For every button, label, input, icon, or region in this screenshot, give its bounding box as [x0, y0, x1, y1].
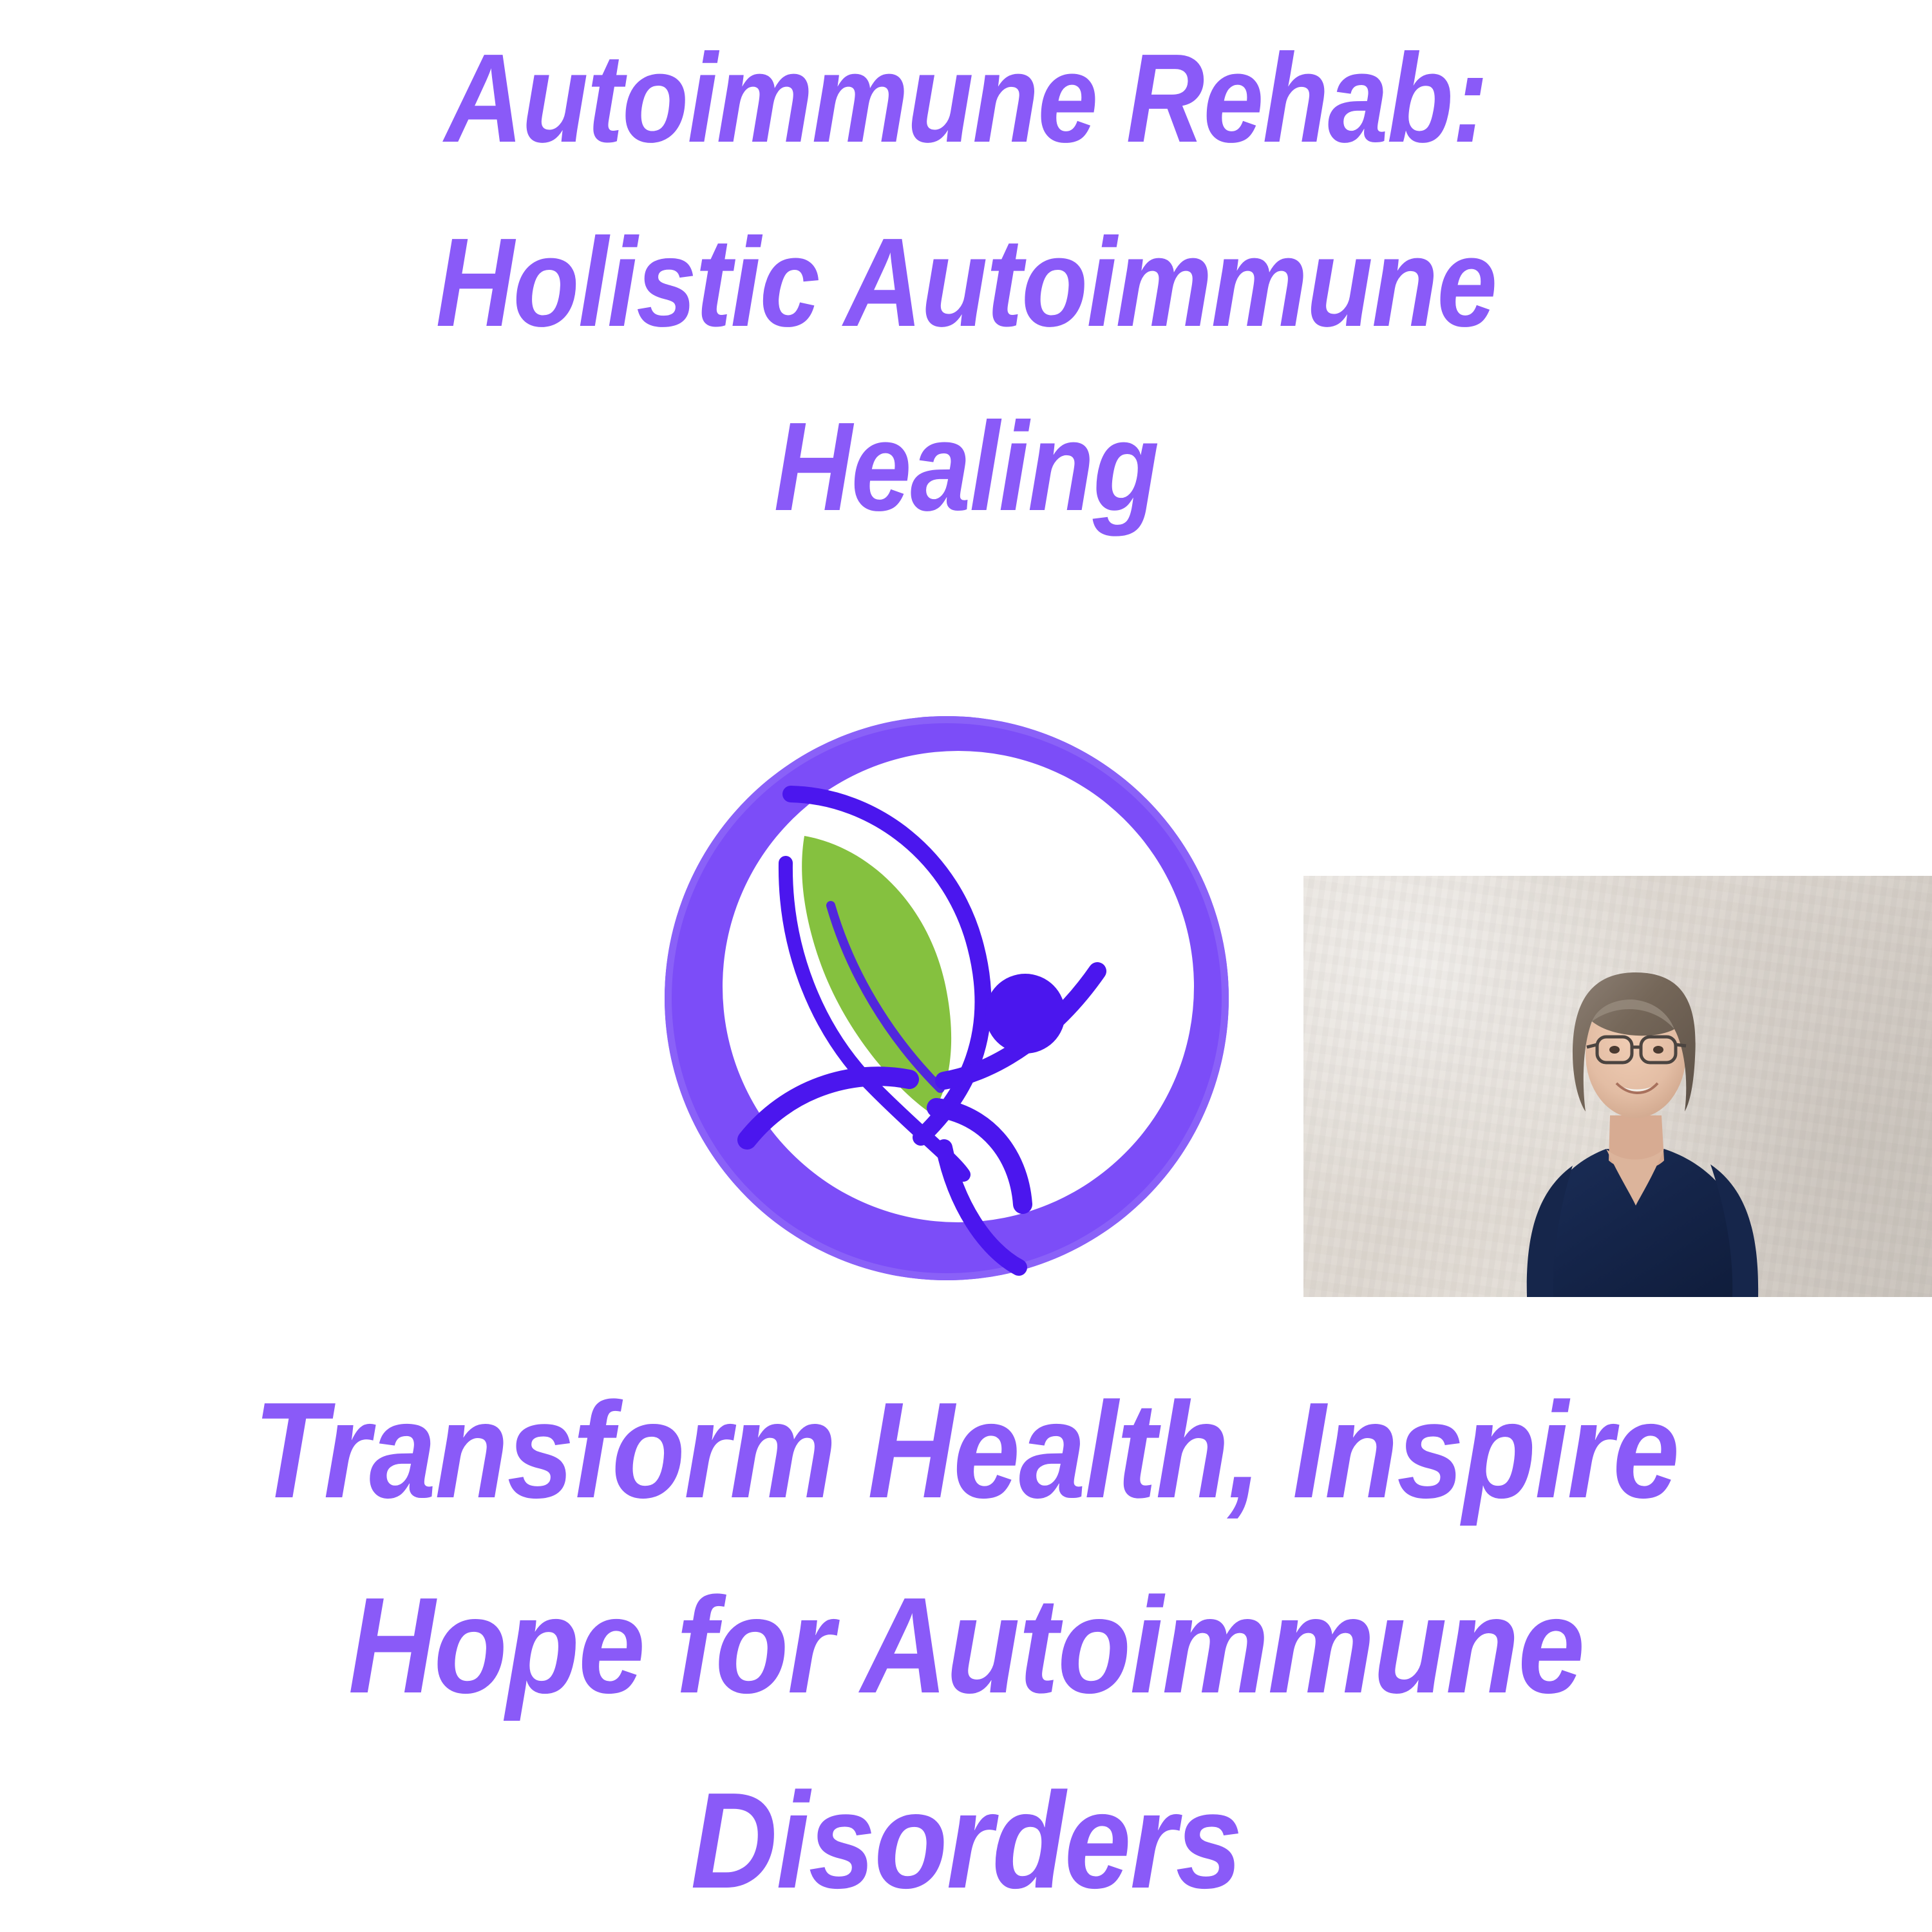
poster-tagline: Transform Health, Inspire Hope for Autoi… — [116, 1352, 1816, 1932]
poster-canvas: Autoimmune Rehab: Holistic Autoimmune He… — [0, 0, 1932, 1932]
host-portrait — [1303, 876, 1932, 1297]
page-title: Autoimmune Rehab: Holistic Autoimmune He… — [135, 6, 1797, 559]
logo-head-icon — [985, 974, 1065, 1054]
autoimmune-rehab-logo — [618, 670, 1275, 1327]
